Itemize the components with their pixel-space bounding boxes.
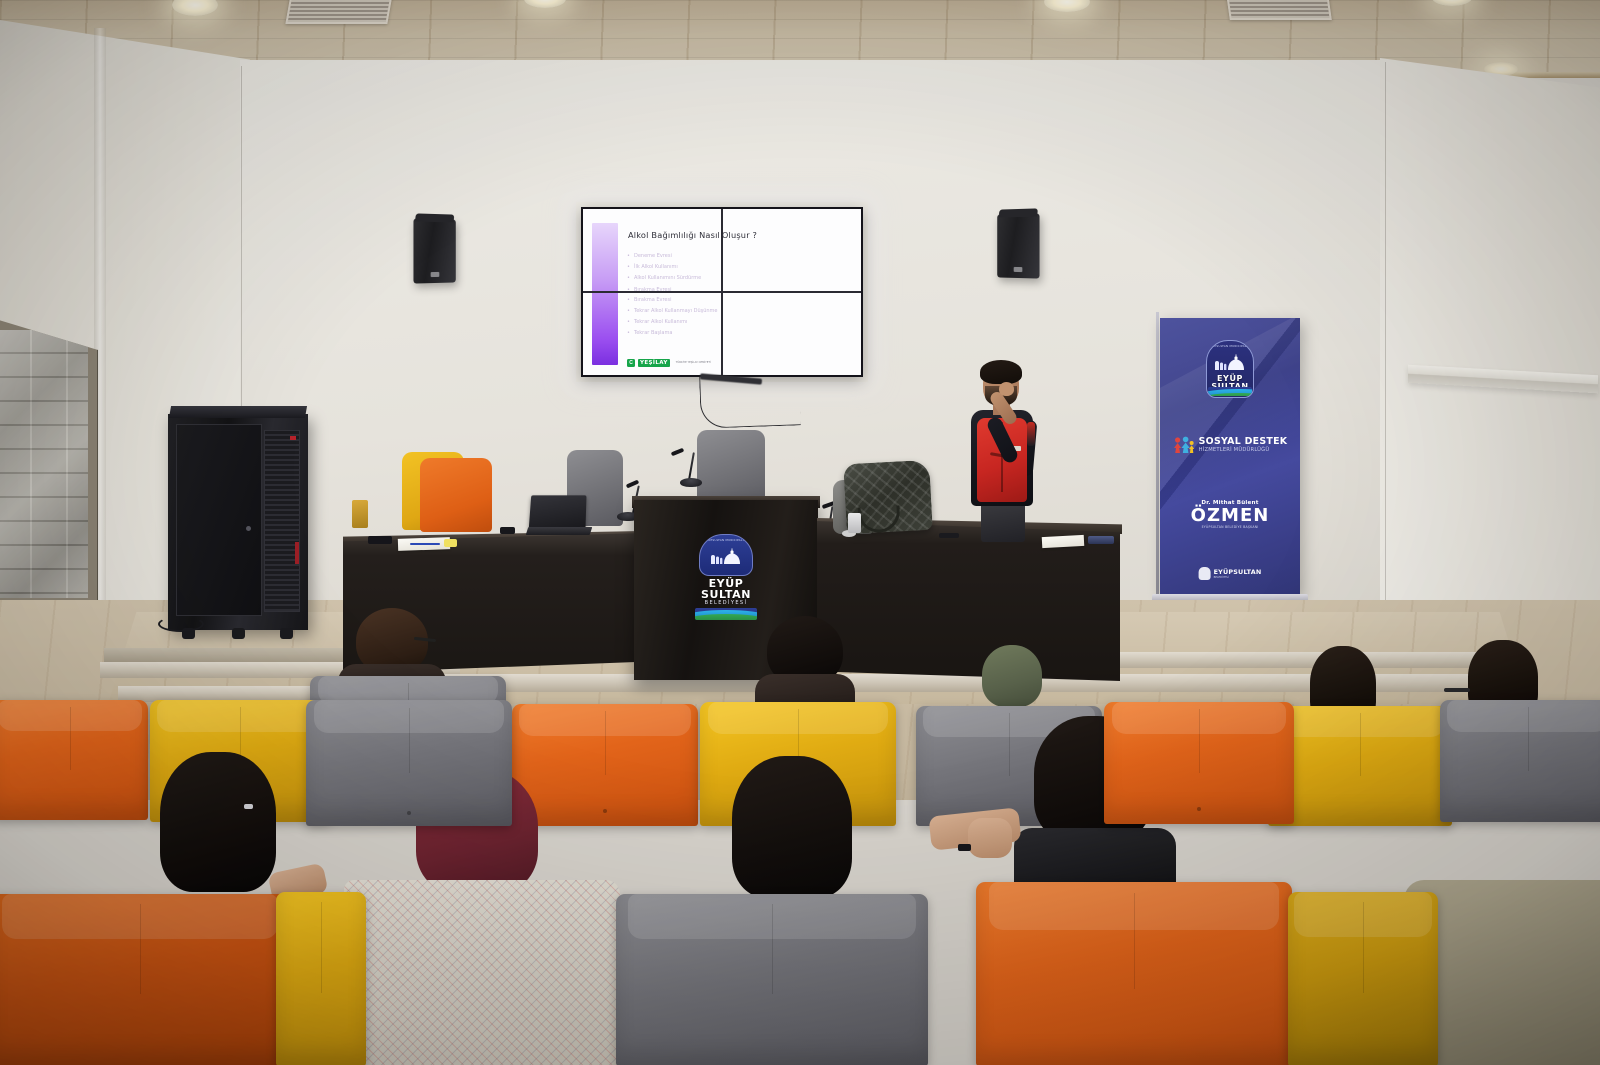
audience-seat-orange-r2-0[interactable]: [0, 894, 290, 1065]
yesilay-wordmark: YEŞİLAY: [638, 359, 670, 367]
audience-seat-orange-r3-3[interactable]: [1104, 702, 1294, 824]
slide-bullet: Bırakma Evresi: [627, 295, 721, 306]
video-wall-panel-bottom-right: [723, 293, 861, 375]
headscarf-olive: [982, 645, 1042, 707]
banner-department-sub: HİZMETLERİ MÜDÜRLÜĞÜ: [1199, 447, 1288, 453]
audience-hand: [968, 818, 1012, 858]
family-icon: [1173, 436, 1195, 454]
stage-chair-leg: [352, 500, 368, 528]
slide-title-tr: Alkol Bağımlılığı Nasıl Oluşur ?: [723, 230, 757, 240]
slide-yesilay-logo-bl: C YEŞİLAY TÜRKİYE YEŞİLAY CEMİYETİ: [627, 359, 711, 367]
podium-wave-graphic: [695, 608, 757, 620]
hair-clip-icon: [244, 804, 253, 809]
video-wall-display[interactable]: Alkol Bağımlılığı Nasıl Oluşur ? Deneme …: [581, 207, 863, 377]
audience-person-curly-center: [755, 616, 855, 716]
banner-shield-arc-text: EYÜPSULTAN MUNICIPALITY: [1208, 344, 1251, 348]
presentation-slide-mirror-bl: Alkol Bağımlılığı Nasıl Oluşur ? Deneme …: [583, 293, 721, 375]
banner-person-surname: ÖZMEN: [1160, 506, 1300, 525]
rack-caster: [280, 628, 293, 639]
rack-lock-icon[interactable]: [246, 526, 251, 531]
ceiling-vent-left-icon: [285, 0, 392, 24]
yesilay-subtext: TÜRKİYE YEŞİLAY CEMİYETİ: [676, 361, 711, 364]
slide-bullet: Tekrar Alkol Kullanmayı Düşünme: [627, 306, 721, 317]
microphone-base-2: [680, 478, 702, 487]
audience-seat-yellow-r2-0[interactable]: [276, 892, 366, 1065]
slide-bullet: Alkol Kullanımını Sürdürme: [627, 273, 721, 284]
slide-bullet: Tekrar Alkol Kullanımı: [627, 317, 721, 328]
banner-footer-sub: BELEDİYESİ: [1214, 576, 1262, 579]
glasses-icon: [1444, 688, 1470, 692]
audience-seat-gray-r2-1[interactable]: [616, 894, 928, 1065]
slide-bullet-list-bl: Deneme Evresi İlk Alkol Kullanımı Alkol …: [627, 293, 721, 340]
slide-bullet: Bırakma Evresi: [627, 285, 721, 291]
audience-person-olive-scarf: [978, 645, 1046, 709]
sticky-note: [444, 539, 457, 547]
podium-sub: BELEDİYESİ: [687, 600, 765, 606]
laptop-icon[interactable]: [529, 495, 587, 529]
rack-door[interactable]: [176, 424, 262, 616]
banner-department-block: SOSYAL DESTEK HİZMETLERİ MÜDÜRLÜĞÜ: [1173, 436, 1288, 454]
banner-person-role: EYÜPSULTAN BELEDİYE BAŞKANI: [1160, 525, 1300, 529]
presenter-hand: [999, 382, 1014, 396]
banner-department-main: SOSYAL DESTEK: [1199, 437, 1288, 447]
presenter-person: [955, 360, 1051, 540]
slide-bullet: Deneme Evresi: [627, 251, 721, 262]
slide-title: Alkol Bağımlılığı Nasıl Oluşur ?: [628, 230, 721, 240]
pen-icon[interactable]: [410, 543, 440, 545]
rack-top: [169, 406, 307, 418]
banner-footer-mark-icon: [1199, 567, 1211, 580]
banner-footer-text: EYÜPSULTAN: [1214, 568, 1262, 576]
presentation-slide: Alkol Bağımlılığı Nasıl Oluşur ? Deneme …: [583, 209, 721, 291]
audience-head: [732, 756, 852, 898]
audience-seat-yellow-r3-3[interactable]: [1268, 706, 1452, 826]
wall-speaker-right-icon: [997, 213, 1039, 278]
rack-label: [290, 436, 296, 440]
backpack-strap: [858, 505, 901, 533]
bottle-icon: [848, 513, 861, 533]
conference-hall-photo: Alkol Bağımlılığı Nasıl Oluşur ? Deneme …: [0, 0, 1600, 1065]
presentation-slide-mirror-br: [723, 293, 861, 375]
audience-shoulders: [1014, 828, 1176, 886]
slide-bullet: Tekrar Başlama: [627, 328, 721, 339]
banner-municipality-shield: EYÜPSULTAN MUNICIPALITY EYÜP SULTAN BELE…: [1206, 340, 1254, 398]
wristwatch-icon: [958, 844, 971, 851]
notebook-icon: [1088, 536, 1114, 544]
podium-logo: EYÜPSULTAN MUNICIPALITY EYÜP SULTAN BELE…: [687, 534, 765, 620]
window-pane-upper: [0, 330, 88, 598]
audience-head: [160, 752, 276, 892]
rack-vent-panel: [264, 430, 300, 612]
stage-chair-orange[interactable]: [420, 458, 492, 532]
equipment-rack: [168, 414, 308, 630]
podium-arc-text: EYÜPSULTAN MUNICIPALITY: [704, 538, 747, 542]
audience-seat-gray-r3-3[interactable]: [1440, 700, 1600, 822]
slide-bullet-list: Deneme Evresi İlk Alkol Kullanımı Alkol …: [627, 251, 721, 291]
audience-seat-yellow-r2-2[interactable]: [1288, 892, 1438, 1065]
presenter-legs: [981, 502, 1025, 542]
ceiling-vent-right-icon: [1226, 0, 1332, 20]
mosque-icon: [1213, 354, 1247, 370]
mouse-icon[interactable]: [500, 527, 515, 534]
audience-person-center-front: [718, 756, 866, 906]
laptop-base: [526, 527, 593, 535]
audience-person-woman-left: [148, 752, 288, 902]
banner-shield-wave: [1208, 387, 1252, 396]
video-wall-panel-bottom-left: Alkol Bağımlılığı Nasıl Oluşur ? Deneme …: [583, 293, 721, 375]
video-wall-panel-top-left: Alkol Bağımlılığı Nasıl Oluşur ? Deneme …: [583, 209, 721, 291]
rack-caster: [232, 628, 245, 639]
audience-seat-gray-r3-1b[interactable]: [306, 700, 512, 826]
municipality-shield: EYÜPSULTAN MUNICIPALITY: [699, 534, 753, 576]
video-wall-grid: Alkol Bağımlılığı Nasıl Oluşur ? Deneme …: [583, 209, 861, 375]
rack-power-cable: [158, 616, 204, 632]
banner-pole: [1156, 312, 1159, 598]
presentation-slide-mirror-tr: Alkol Bağımlılığı Nasıl Oluşur ?: [723, 209, 861, 291]
rack-handle[interactable]: [295, 542, 299, 564]
banner-footer-logo: EYÜPSULTAN BELEDİYESİ: [1199, 567, 1262, 580]
podium-name: EYÜP SULTAN: [687, 578, 765, 600]
slide-bullet: İlk Alkol Kullanımı: [627, 262, 721, 273]
wall-speaker-left-icon: [413, 218, 455, 283]
audience-tweed-coat: [344, 880, 620, 1065]
phone-icon[interactable]: [368, 536, 392, 544]
presenter-hair: [980, 360, 1022, 384]
presenter-handheld-microphone-icon: [1027, 422, 1035, 446]
audience-seat-orange-r2-1[interactable]: [976, 882, 1292, 1065]
yesilay-icon: C: [627, 359, 635, 367]
mosque-icon: [709, 548, 743, 564]
banner-person-block: Dr. Mithat Bülent ÖZMEN EYÜPSULTAN BELED…: [1160, 500, 1300, 529]
rollup-banner: EYÜPSULTAN MUNICIPALITY EYÜP SULTAN BELE…: [1160, 318, 1300, 596]
window-view-stone-wall: [0, 330, 88, 598]
wall-corner-right: [1385, 62, 1386, 652]
audience-seat-orange-r3-0[interactable]: [0, 700, 148, 820]
slide-accent-bar: [592, 223, 618, 291]
video-wall-panel-top-right: Alkol Bağımlılığı Nasıl Oluşur ?: [723, 209, 861, 291]
